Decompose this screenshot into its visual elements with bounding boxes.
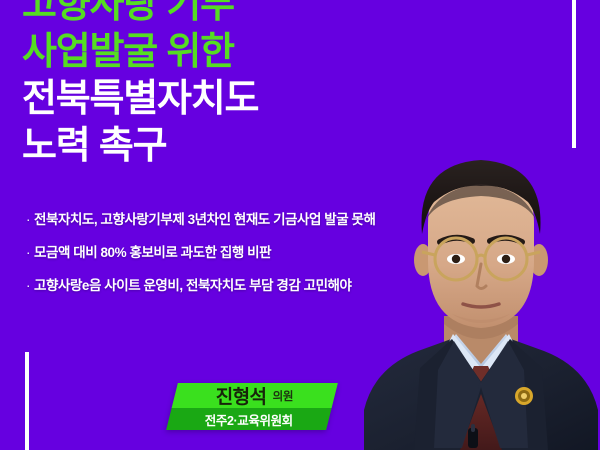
name-badge: 진형석 의원 전주2·교육위원회 xyxy=(166,383,338,430)
name-badge-secondary-row: 전주2·교육위원회 xyxy=(166,408,331,430)
member-district-committee: 전주2·교육위원회 xyxy=(205,410,293,429)
lapel-pin xyxy=(515,387,533,405)
news-card-graphic: 고향사랑 기부 사업발굴 위한 전북특별자치도 노력 촉구 ·전북자치도, 고향… xyxy=(0,0,600,450)
headline-line-3: 전북특별자치도 xyxy=(22,76,452,123)
list-item-text: 고향사랑e음 사이트 운영비, 전북자치도 부담 경감 고민해야 xyxy=(34,278,351,293)
headline-line-2: 사업발굴 위한 xyxy=(22,29,452,76)
bullet-marker-icon: · xyxy=(26,245,30,261)
member-title: 의원 xyxy=(273,388,294,404)
summary-bullet-list: ·전북자치도, 고향사랑기부제 3년차인 현재도 기금사업 발굴 못해 ·모금액… xyxy=(26,212,375,311)
portrait-photo xyxy=(356,128,600,450)
bullet-marker-icon: · xyxy=(26,212,30,228)
decorative-rule-top-right xyxy=(572,0,576,148)
list-item: ·모금액 대비 80% 홍보비로 과도한 집행 비판 xyxy=(26,245,375,261)
headline-line-1: 고향사랑 기부 xyxy=(22,0,452,29)
list-item-text: 모금액 대비 80% 홍보비로 과도한 집행 비판 xyxy=(34,245,271,260)
member-name: 진형석 xyxy=(216,382,267,409)
decorative-rule-bottom-left xyxy=(25,352,29,450)
bullet-marker-icon: · xyxy=(26,278,30,294)
list-item: ·고향사랑e음 사이트 운영비, 전북자치도 부담 경감 고민해야 xyxy=(26,278,375,294)
list-item: ·전북자치도, 고향사랑기부제 3년차인 현재도 기금사업 발굴 못해 xyxy=(26,212,375,228)
list-item-text: 전북자치도, 고향사랑기부제 3년차인 현재도 기금사업 발굴 못해 xyxy=(34,212,375,227)
name-badge-primary-row: 진형석 의원 xyxy=(172,383,338,408)
